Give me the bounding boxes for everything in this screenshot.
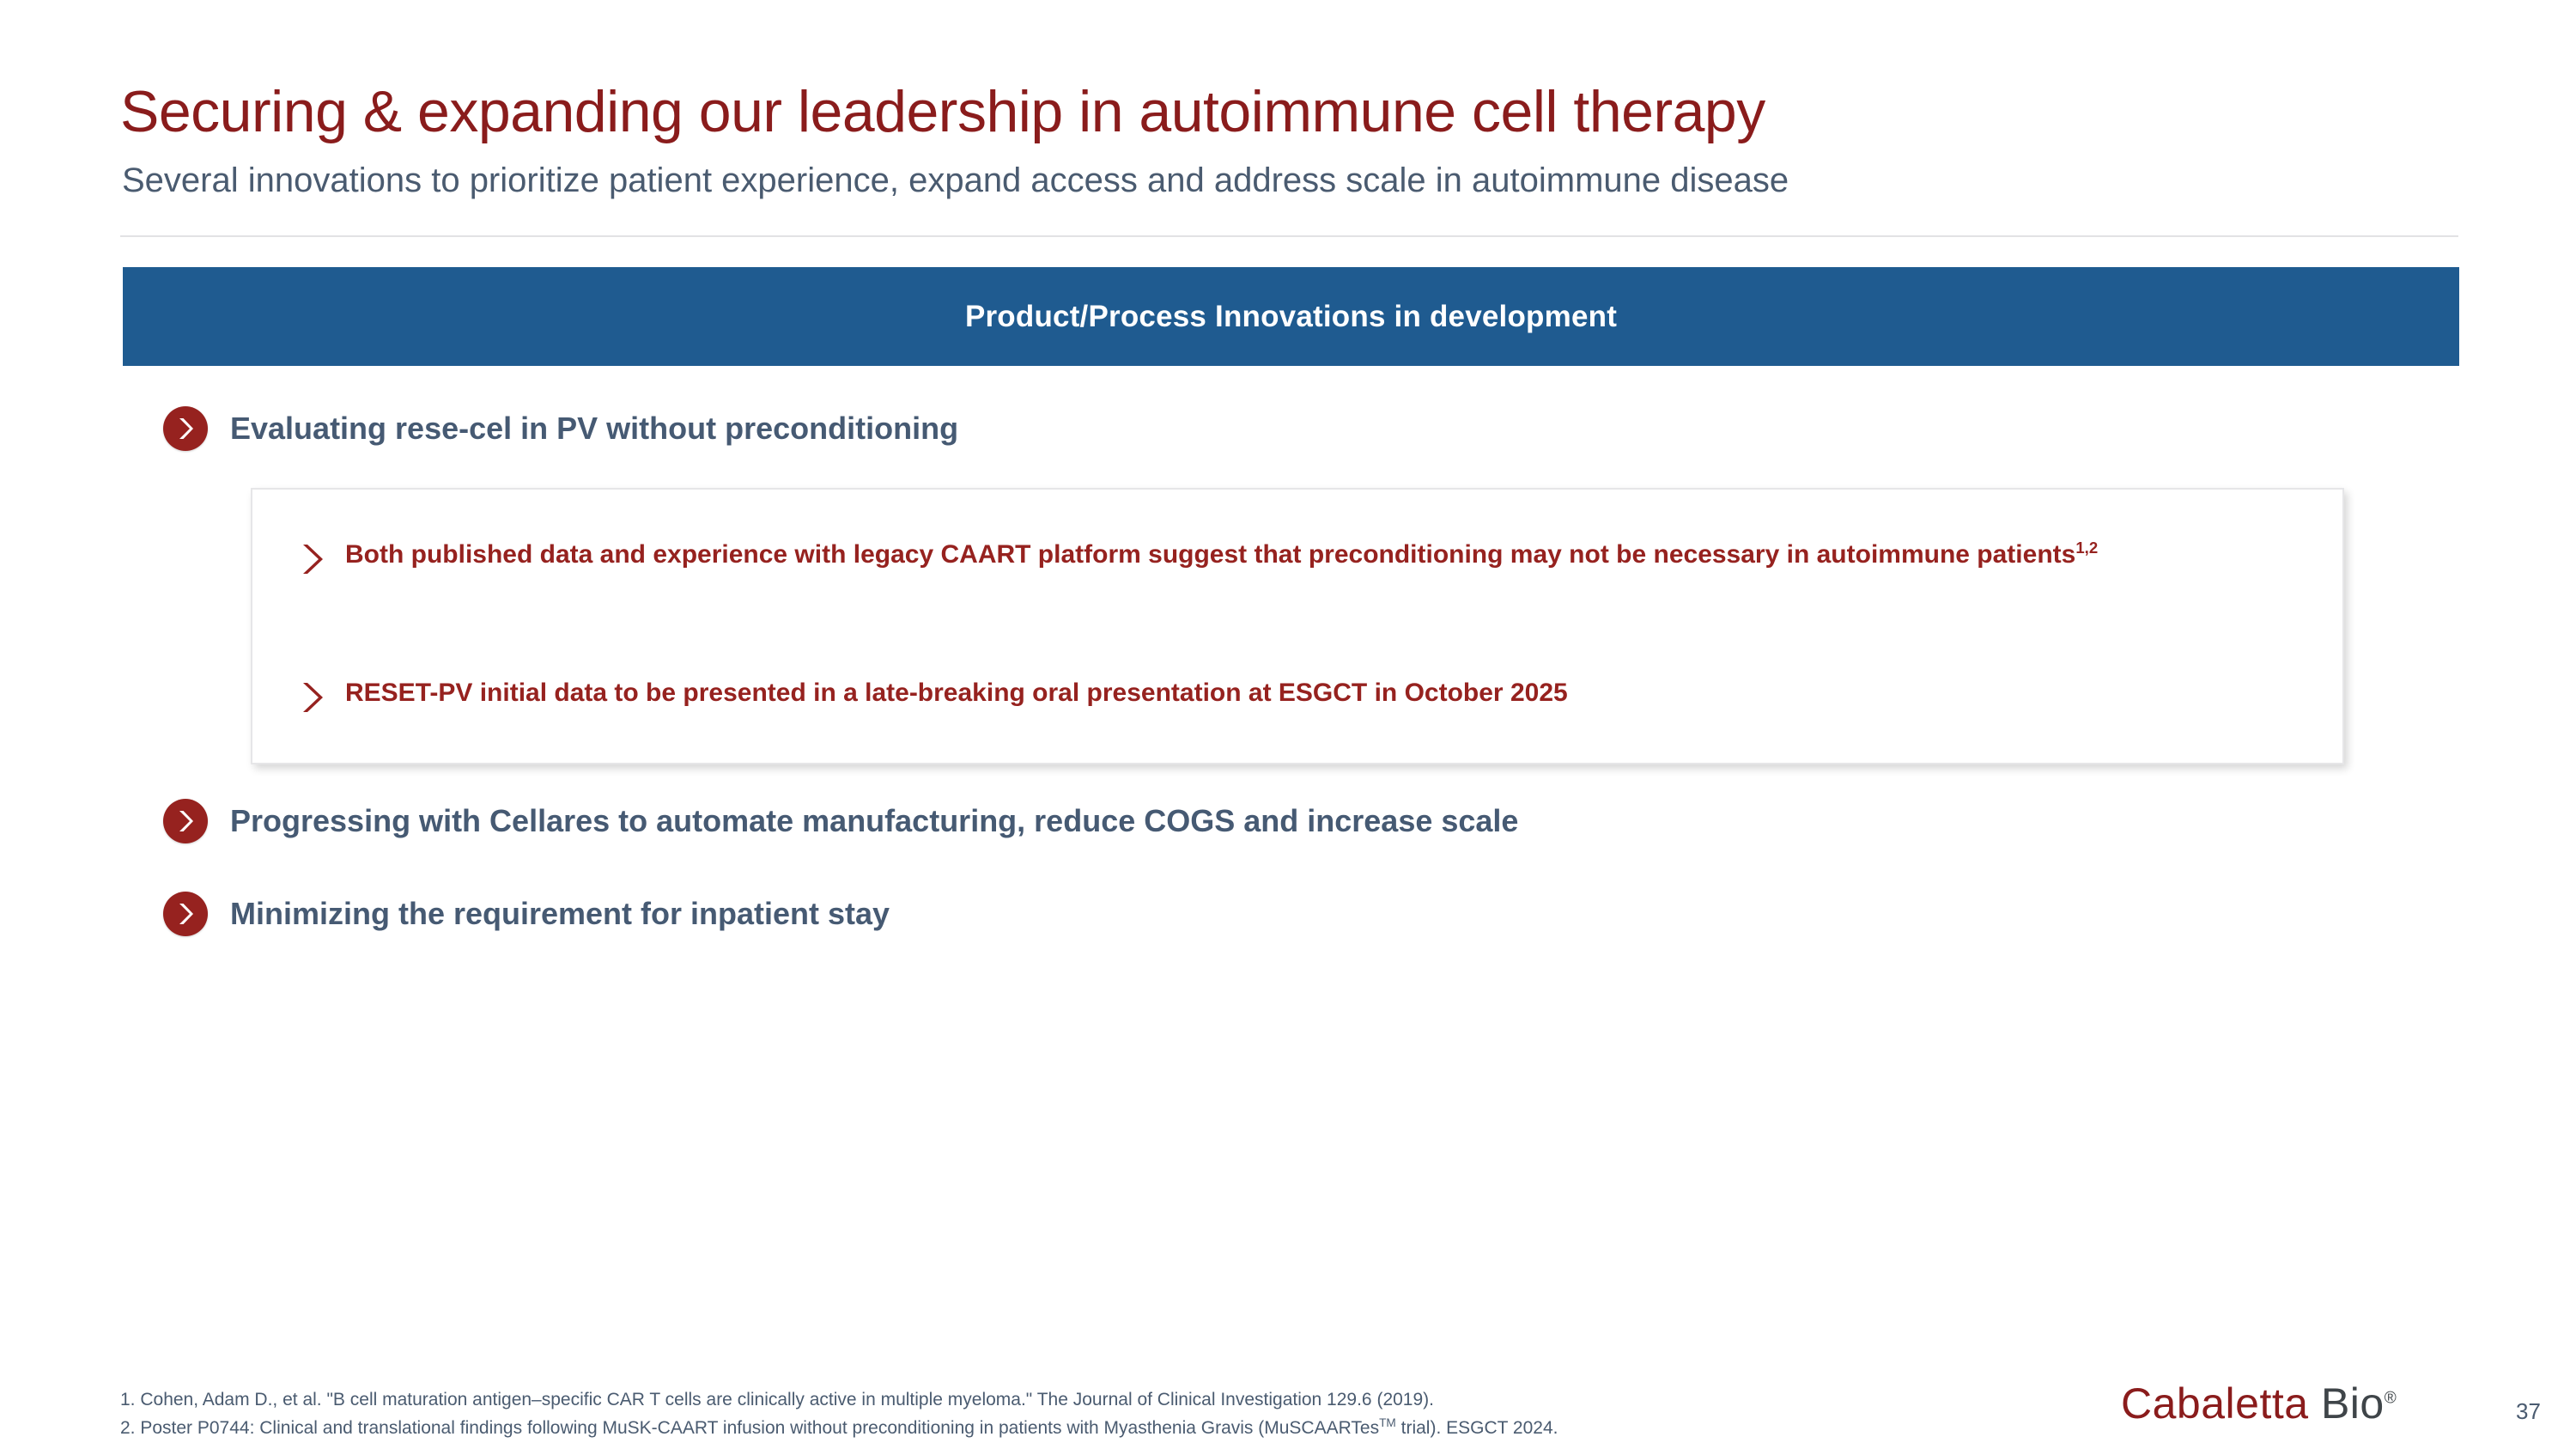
- footnotes: 1. Cohen, Adam D., et al. "B cell matura…: [120, 1385, 1558, 1442]
- sub-bullet-superscript: 1,2: [2075, 539, 2098, 557]
- chevron-right-circle-icon: [163, 799, 208, 843]
- section-band-label: Product/Process Innovations in developme…: [965, 300, 1617, 334]
- page-subtitle: Several innovations to prioritize patien…: [122, 160, 1789, 201]
- header-divider: [120, 235, 2458, 237]
- detail-card: Both published data and experience with …: [251, 488, 2344, 764]
- chevron-right-circle-icon: [163, 892, 208, 936]
- page-title: Securing & expanding our leadership in a…: [120, 81, 1765, 143]
- sub-bullet-text: Both published data and experience with …: [345, 537, 2098, 574]
- page-number: 37: [2516, 1398, 2541, 1425]
- sub-bullet-reset-pv[interactable]: RESET-PV initial data to be presented in…: [297, 675, 2272, 715]
- bullet-label: Progressing with Cellares to automate ma…: [230, 804, 1518, 838]
- registered-trademark-icon: ®: [2385, 1389, 2397, 1407]
- logo-primary-text: Cabaletta: [2121, 1379, 2309, 1428]
- footnote-1: 1. Cohen, Adam D., et al. "B cell matura…: [120, 1385, 1558, 1414]
- slide-canvas: Securing & expanding our leadership in a…: [0, 0, 2576, 1449]
- footnote-2-superscript: TM: [1379, 1416, 1396, 1429]
- sub-bullet-body: RESET-PV initial data to be presented in…: [345, 679, 1568, 707]
- logo-secondary-text: Bio: [2321, 1379, 2385, 1428]
- chevron-right-icon: [297, 680, 326, 715]
- section-band: Product/Process Innovations in developme…: [123, 267, 2459, 366]
- chevron-right-icon: [297, 542, 326, 576]
- sub-bullet-body: Both published data and experience with …: [345, 540, 2075, 569]
- bullet-item-minimizing-inpatient-stay[interactable]: Minimizing the requirement for inpatient…: [163, 892, 890, 936]
- bullet-label: Minimizing the requirement for inpatient…: [230, 897, 890, 931]
- bullet-item-progressing-cellares[interactable]: Progressing with Cellares to automate ma…: [163, 799, 1518, 843]
- sub-bullet-published-data[interactable]: Both published data and experience with …: [297, 537, 2272, 576]
- sub-bullet-text: RESET-PV initial data to be presented in…: [345, 675, 1568, 712]
- chevron-right-circle-icon: [163, 406, 208, 451]
- bullet-item-evaluating-rese-cel[interactable]: Evaluating rese-cel in PV without precon…: [163, 406, 958, 451]
- bullet-label: Evaluating rese-cel in PV without precon…: [230, 411, 958, 446]
- cabaletta-bio-logo: Cabaletta Bio®: [2121, 1379, 2397, 1428]
- footnote-2-pre: 2. Poster P0744: Clinical and translatio…: [120, 1418, 1379, 1438]
- footnote-2-post: trial). ESGCT 2024.: [1396, 1418, 1558, 1438]
- footnote-2: 2. Poster P0744: Clinical and translatio…: [120, 1414, 1558, 1442]
